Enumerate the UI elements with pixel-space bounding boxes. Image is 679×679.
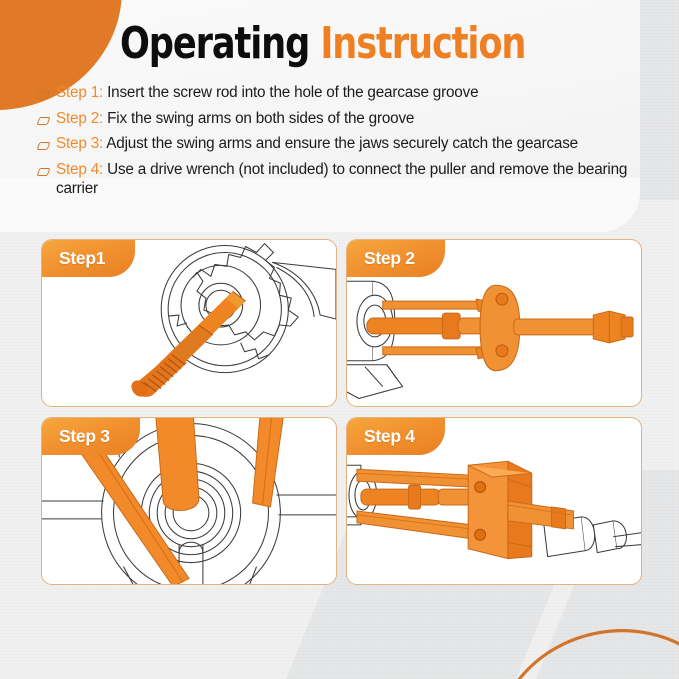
parallelogram-bullet-icon xyxy=(37,168,51,176)
step-text: Step 4: Use a drive wrench (not included… xyxy=(56,161,648,198)
instruction-page: Operating Instruction Step 1: Insert the… xyxy=(0,0,679,679)
page-title-accent: Instruction xyxy=(320,18,525,69)
step-card-tab-1: Step1 xyxy=(41,239,135,277)
parallelogram-bullet-icon xyxy=(37,142,51,150)
step-label: Step 4: xyxy=(56,161,103,178)
step-text: Step 1: Insert the screw rod into the ho… xyxy=(56,84,478,103)
parallelogram-bullet-icon xyxy=(37,117,51,125)
step-card-4: Step 4 xyxy=(346,417,642,585)
parallelogram-bullet-icon xyxy=(37,91,51,99)
step-card-tab-3: Step 3 xyxy=(41,417,140,455)
step-list-item: Step 3: Adjust the swing arms and ensure… xyxy=(38,135,648,154)
step-text: Step 3: Adjust the swing arms and ensure… xyxy=(56,135,578,154)
step-card-tab-2: Step 2 xyxy=(346,239,445,277)
step-list-item: Step 2: Fix the swing arms on both sides… xyxy=(38,110,648,129)
step-list-item: Step 1: Insert the screw rod into the ho… xyxy=(38,84,648,103)
step-card-3: Step 3 xyxy=(41,417,337,585)
step-card-tab-4: Step 4 xyxy=(346,417,445,455)
step-label: Step 3: xyxy=(56,135,103,152)
step-description: Use a drive wrench (not included) to con… xyxy=(56,161,627,197)
step-description: Adjust the swing arms and ensure the jaw… xyxy=(103,135,578,152)
step-description: Fix the swing arms on both sides of the … xyxy=(103,110,414,127)
step-text: Step 2: Fix the swing arms on both sides… xyxy=(56,110,414,129)
step-list-item: Step 4: Use a drive wrench (not included… xyxy=(38,161,648,198)
page-title-primary: Operating xyxy=(120,18,309,69)
page-title: Operating Instruction xyxy=(120,21,525,67)
step-list: Step 1: Insert the screw rod into the ho… xyxy=(38,84,648,205)
step-label: Step 2: xyxy=(56,110,103,127)
step-card-2: Step 2 xyxy=(346,239,642,407)
step-card-grid: Step1 xyxy=(41,239,641,585)
step-card-1: Step1 xyxy=(41,239,337,407)
step-label: Step 1: xyxy=(56,84,103,101)
step-description: Insert the screw rod into the hole of th… xyxy=(103,84,478,101)
